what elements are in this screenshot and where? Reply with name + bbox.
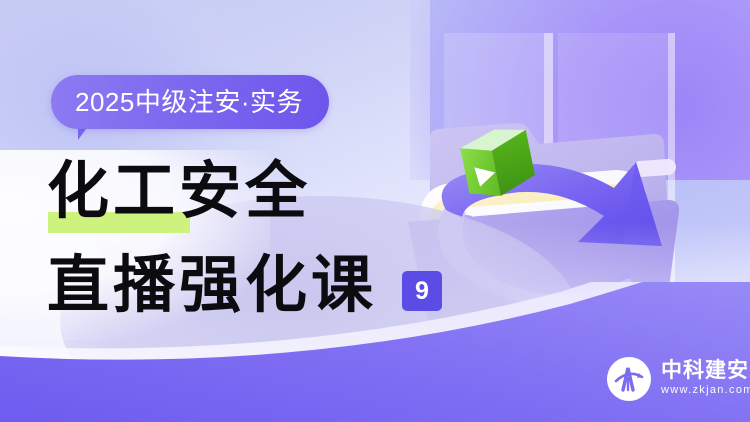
- course-category-label: 2025中级注安·实务: [75, 89, 303, 115]
- background-bar-2: [668, 33, 675, 363]
- course-promo-banner: 2025中级注安·实务 化工安全 直播强化课 9 中科建安 www.zkjan.…: [0, 0, 750, 422]
- green-play-cube-icon: [456, 122, 540, 203]
- text-block: 2025中级注安·实务 化工安全 直播强化课 9: [0, 0, 440, 422]
- folder-illustration: [400, 10, 750, 360]
- document-folder-icon: [430, 123, 677, 289]
- paper-sheets-icon: [420, 170, 652, 267]
- episode-number: 9: [415, 279, 429, 304]
- course-category-badge: 2025中级注安·实务: [51, 75, 329, 129]
- background-panel-1: [444, 33, 544, 363]
- purple-swoosh-arrow-icon: [442, 162, 662, 246]
- background-bar-1: [544, 33, 553, 363]
- zkjan-circle-mark-icon: [606, 356, 652, 402]
- page-title-line-1: 化工安全: [47, 161, 311, 223]
- brand-name: 中科建安: [661, 360, 750, 382]
- episode-number-badge: 9: [402, 271, 442, 311]
- swoosh-ring-back: [438, 210, 636, 310]
- brand-logo-text: 中科建安 www.zkjan.com: [661, 360, 750, 399]
- brand-logo: 中科建安 www.zkjan.com: [606, 356, 750, 402]
- background-panel-2: [558, 33, 668, 363]
- brand-url: www.zkjan.com: [661, 382, 750, 399]
- background-glow-top-right: [410, 0, 750, 180]
- folder-front-flap: [408, 200, 679, 323]
- background-right-panel: [430, 0, 750, 360]
- page-title-line-2: 直播强化课: [47, 255, 377, 317]
